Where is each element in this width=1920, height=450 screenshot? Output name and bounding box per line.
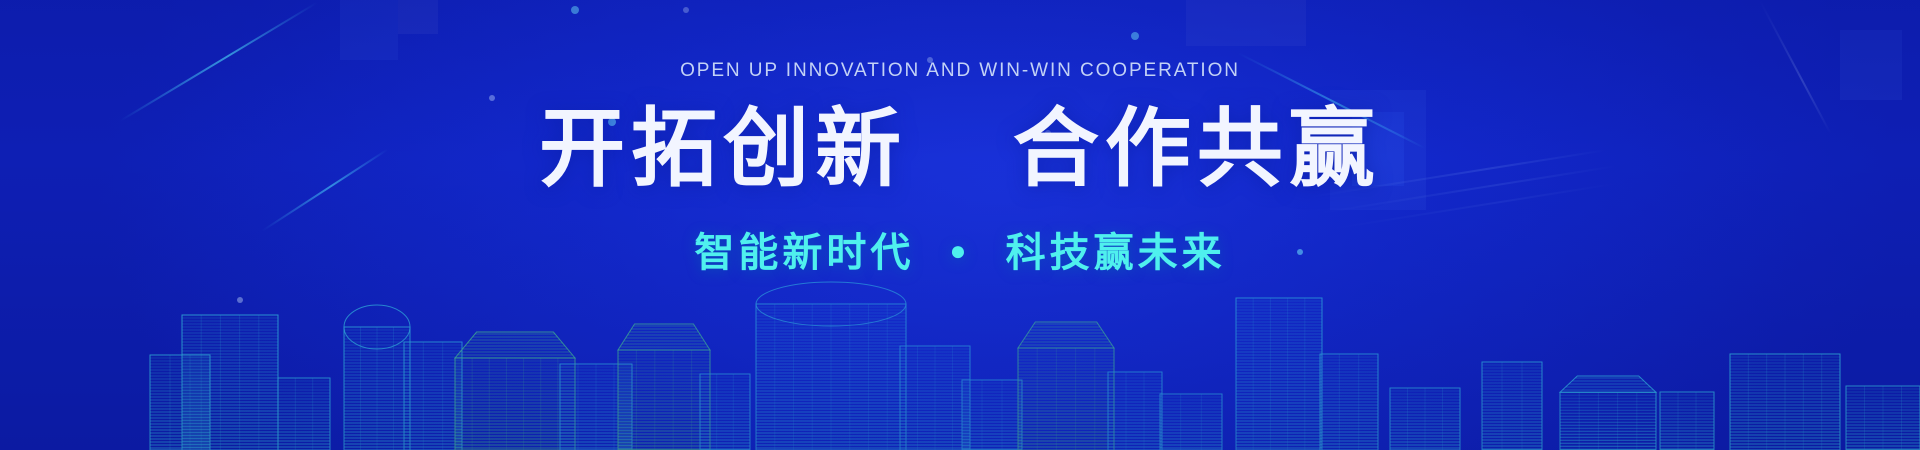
banner-eyebrow-text: OPEN UP INNOVATION AND WIN-WIN COOPERATI…	[0, 60, 1920, 82]
banner-headline: 开拓创新 合作共赢	[0, 104, 1920, 194]
subline-part-right: 科技赢未来	[1006, 231, 1226, 275]
subline-part-left: 智能新时代	[694, 231, 914, 275]
subline-separator-dot: ●	[950, 235, 971, 267]
headline-part-right: 合作共赢	[1013, 101, 1381, 197]
hero-banner: OPEN UP INNOVATION AND WIN-WIN COOPERATI…	[0, 0, 1920, 450]
headline-part-left: 开拓创新	[539, 101, 907, 197]
banner-subline: 智能新时代 ● 科技赢未来	[0, 220, 1920, 278]
banner-text-block: OPEN UP INNOVATION AND WIN-WIN COOPERATI…	[0, 0, 1920, 278]
